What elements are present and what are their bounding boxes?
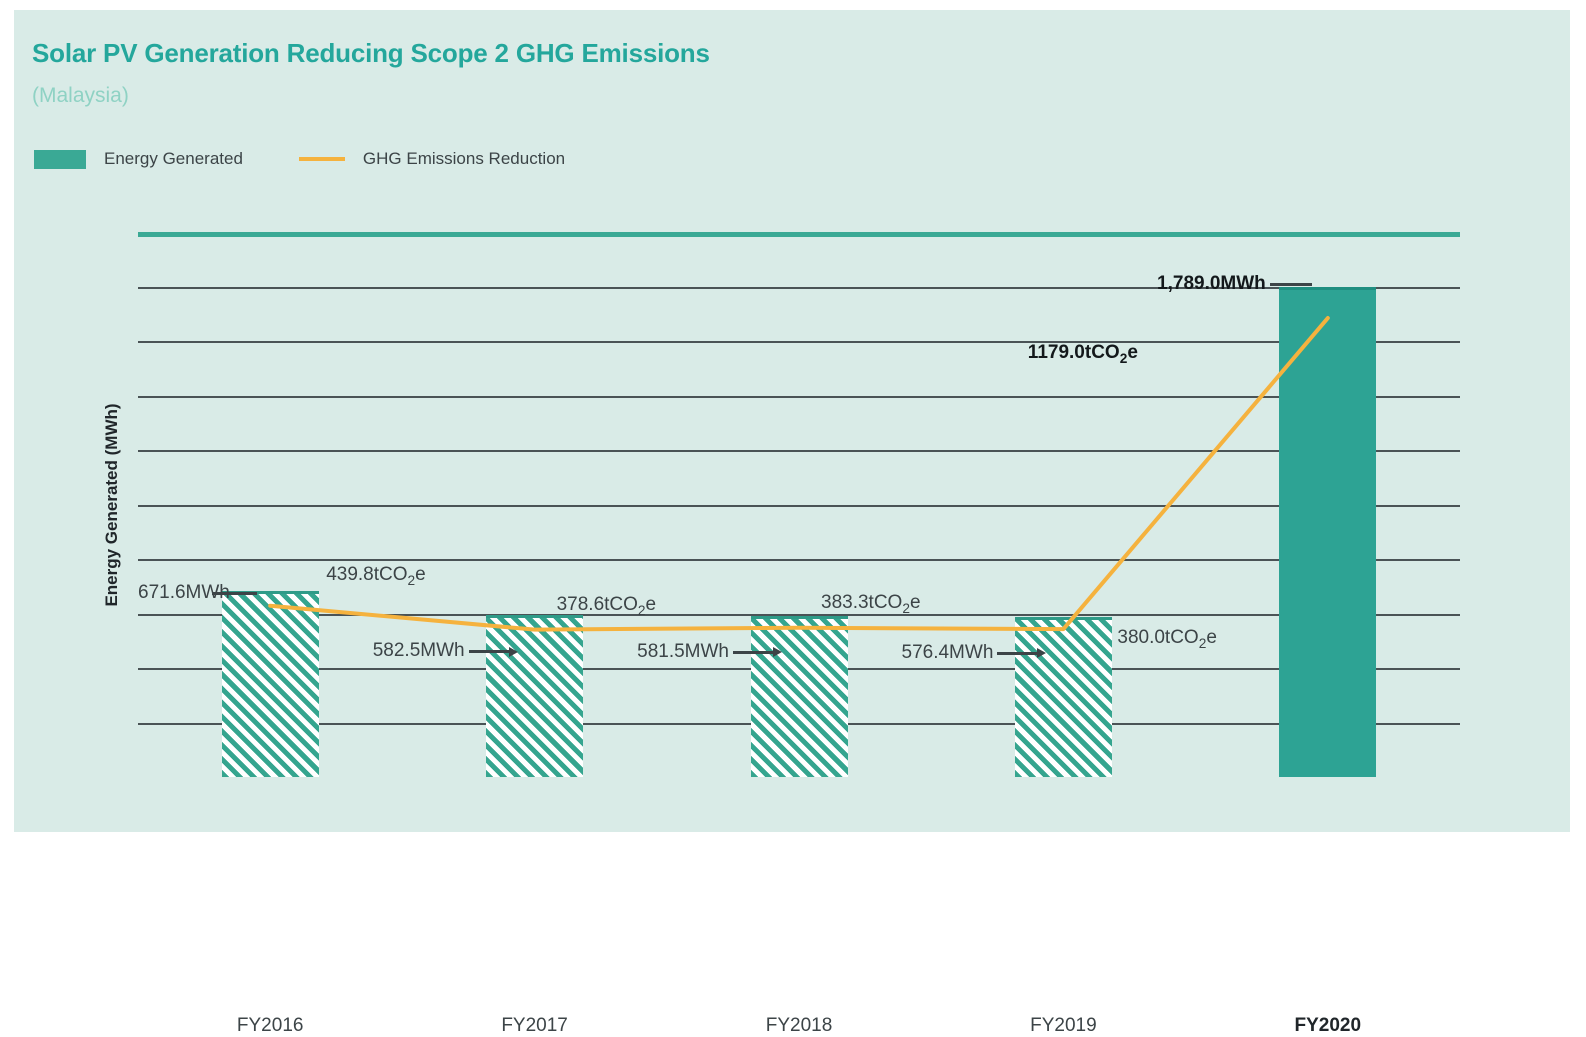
chart-legend: Energy Generated GHG Emissions Reduction [34,146,565,172]
legend-label-ghg-emissions-reduction: GHG Emissions Reduction [363,149,565,169]
bar-label-fy2020: 1,789.0MWh [138,273,1266,295]
ghg-line-series [138,232,1460,777]
leader-fy2016 [212,592,257,595]
legend-label-energy-generated: Energy Generated [104,149,243,169]
leader-fy2020 [1270,283,1312,286]
legend-item-energy-generated[interactable]: Energy Generated [34,149,243,169]
chart-title: Solar PV Generation Reducing Scope 2 GHG… [32,38,710,69]
plot-area: Energy Generated (MWh) GHG Emissions Red… [138,232,1460,777]
x-axis-label-fy2018: FY2018 [689,1015,909,1037]
x-axis-label-fy2017: FY2017 [425,1015,645,1037]
leader-fy2019 [997,652,1037,655]
line-swatch-icon [299,157,345,161]
x-axis-label-fy2020: FY2020 [1218,1015,1438,1037]
legend-item-ghg-emissions-reduction[interactable]: GHG Emissions Reduction [299,149,565,169]
line-label-fy2020: 1179.0tCO2e [1028,342,1138,366]
bar-label-fy2019: 576.4MWh [138,642,993,664]
chart-subtitle: (Malaysia) [32,84,129,108]
bar-label-fy2016: 671.6MWh [138,582,208,604]
x-axis-label-fy2019: FY2019 [953,1015,1173,1037]
line-label-fy2018: 383.3tCO2e [821,592,921,616]
line-label-fy2016: 439.8tCO2e [326,564,426,588]
bar-swatch-icon [34,150,86,169]
line-label-fy2019: 380.0tCO2e [1117,627,1217,651]
x-axis-label-fy2016: FY2016 [160,1015,380,1037]
chart-panel: Solar PV Generation Reducing Scope 2 GHG… [14,10,1570,832]
y-axis-left-title: Energy Generated (MWh) [102,403,122,606]
leader-fy2019-arrow [1037,648,1046,658]
line-label-fy2017: 378.6tCO2e [557,594,657,618]
